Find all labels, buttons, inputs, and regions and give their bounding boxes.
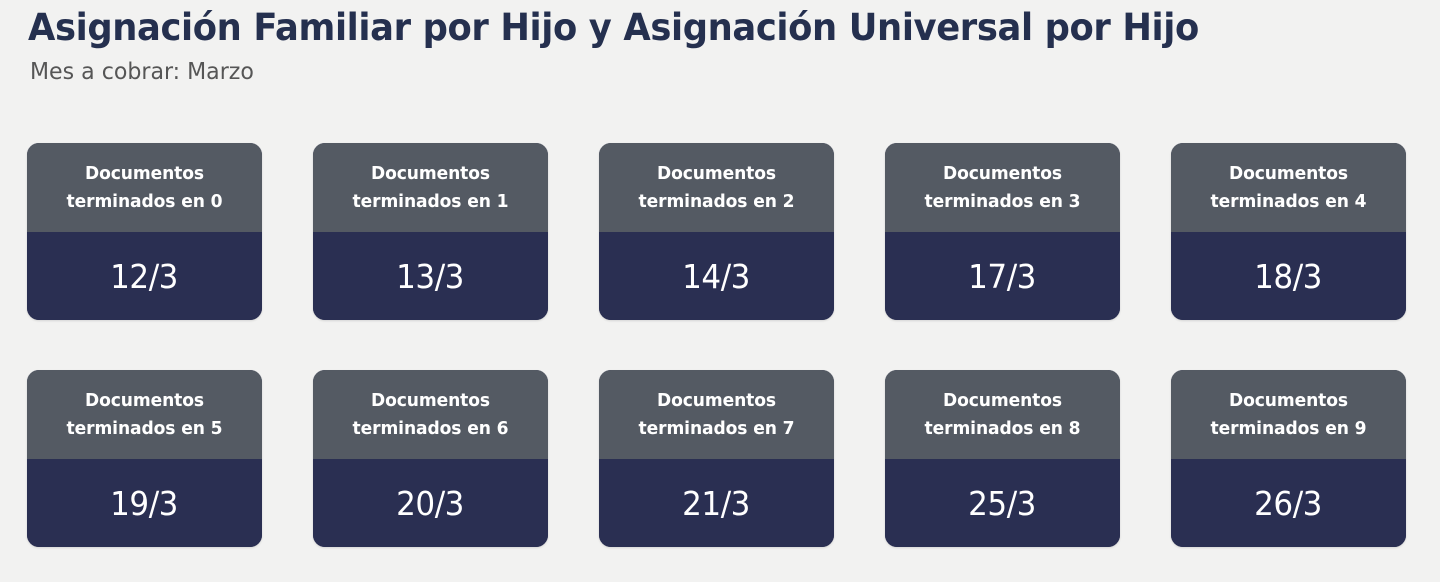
schedule-card: Documentos terminados en 3 17/3: [885, 143, 1120, 320]
schedule-card-label: Documentos terminados en 4: [1186, 160, 1390, 216]
schedule-card-label: Documentos terminados en 2: [614, 160, 818, 216]
schedule-card: Documentos terminados en 9 26/3: [1171, 370, 1406, 547]
schedule-card-date: 25/3: [969, 487, 1037, 520]
schedule-card: Documentos terminados en 1 13/3: [313, 143, 548, 320]
schedule-card-header: Documentos terminados en 6: [313, 370, 548, 459]
payment-schedule-infographic: Asignación Familiar por Hijo y Asignació…: [0, 0, 1440, 582]
schedule-card: Documentos terminados en 7 21/3: [599, 370, 834, 547]
schedule-card-label: Documentos terminados en 5: [42, 387, 246, 443]
schedule-card-header: Documentos terminados en 9: [1171, 370, 1406, 459]
schedule-card-body: 25/3: [885, 459, 1120, 547]
schedule-card-label: Documentos terminados en 3: [900, 160, 1104, 216]
schedule-card-body: 12/3: [27, 232, 262, 320]
schedule-card: Documentos terminados en 5 19/3: [27, 370, 262, 547]
schedule-card-label: Documentos terminados en 0: [42, 160, 246, 216]
page-title: Asignación Familiar por Hijo y Asignació…: [28, 8, 1350, 49]
schedule-card-date: 17/3: [969, 260, 1037, 293]
card-row-second: Documentos terminados en 5 19/3 Document…: [27, 370, 1406, 547]
schedule-card-date: 14/3: [683, 260, 751, 293]
schedule-card-date: 26/3: [1255, 487, 1323, 520]
schedule-card-date: 20/3: [397, 487, 465, 520]
schedule-card-body: 20/3: [313, 459, 548, 547]
schedule-card-header: Documentos terminados en 5: [27, 370, 262, 459]
schedule-card: Documentos terminados en 0 12/3: [27, 143, 262, 320]
schedule-card-body: 21/3: [599, 459, 834, 547]
schedule-card-body: 19/3: [27, 459, 262, 547]
schedule-card-header: Documentos terminados en 0: [27, 143, 262, 232]
schedule-card-body: 17/3: [885, 232, 1120, 320]
schedule-card-date: 19/3: [111, 487, 179, 520]
schedule-card-label: Documentos terminados en 8: [900, 387, 1104, 443]
schedule-card-body: 18/3: [1171, 232, 1406, 320]
cards-area: Documentos terminados en 0 12/3 Document…: [27, 143, 1406, 547]
schedule-card: Documentos terminados en 6 20/3: [313, 370, 548, 547]
schedule-card-label: Documentos terminados en 6: [328, 387, 532, 443]
page-subtitle: Mes a cobrar: Marzo: [30, 60, 1357, 85]
schedule-card-date: 18/3: [1255, 260, 1323, 293]
schedule-card-header: Documentos terminados en 1: [313, 143, 548, 232]
schedule-card-label: Documentos terminados en 1: [328, 160, 532, 216]
schedule-card-header: Documentos terminados en 8: [885, 370, 1120, 459]
schedule-card-label: Documentos terminados en 9: [1186, 387, 1390, 443]
schedule-card-body: 26/3: [1171, 459, 1406, 547]
schedule-card: Documentos terminados en 2 14/3: [599, 143, 834, 320]
schedule-card: Documentos terminados en 8 25/3: [885, 370, 1120, 547]
schedule-card-header: Documentos terminados en 3: [885, 143, 1120, 232]
schedule-card-header: Documentos terminados en 7: [599, 370, 834, 459]
schedule-card-body: 13/3: [313, 232, 548, 320]
schedule-card-date: 12/3: [111, 260, 179, 293]
card-row-first: Documentos terminados en 0 12/3 Document…: [27, 143, 1406, 320]
schedule-card-date: 13/3: [397, 260, 465, 293]
schedule-card-date: 21/3: [683, 487, 751, 520]
schedule-card-header: Documentos terminados en 4: [1171, 143, 1406, 232]
header: Asignación Familiar por Hijo y Asignació…: [28, 8, 1412, 85]
schedule-card-body: 14/3: [599, 232, 834, 320]
schedule-card: Documentos terminados en 4 18/3: [1171, 143, 1406, 320]
schedule-card-header: Documentos terminados en 2: [599, 143, 834, 232]
schedule-card-label: Documentos terminados en 7: [614, 387, 818, 443]
